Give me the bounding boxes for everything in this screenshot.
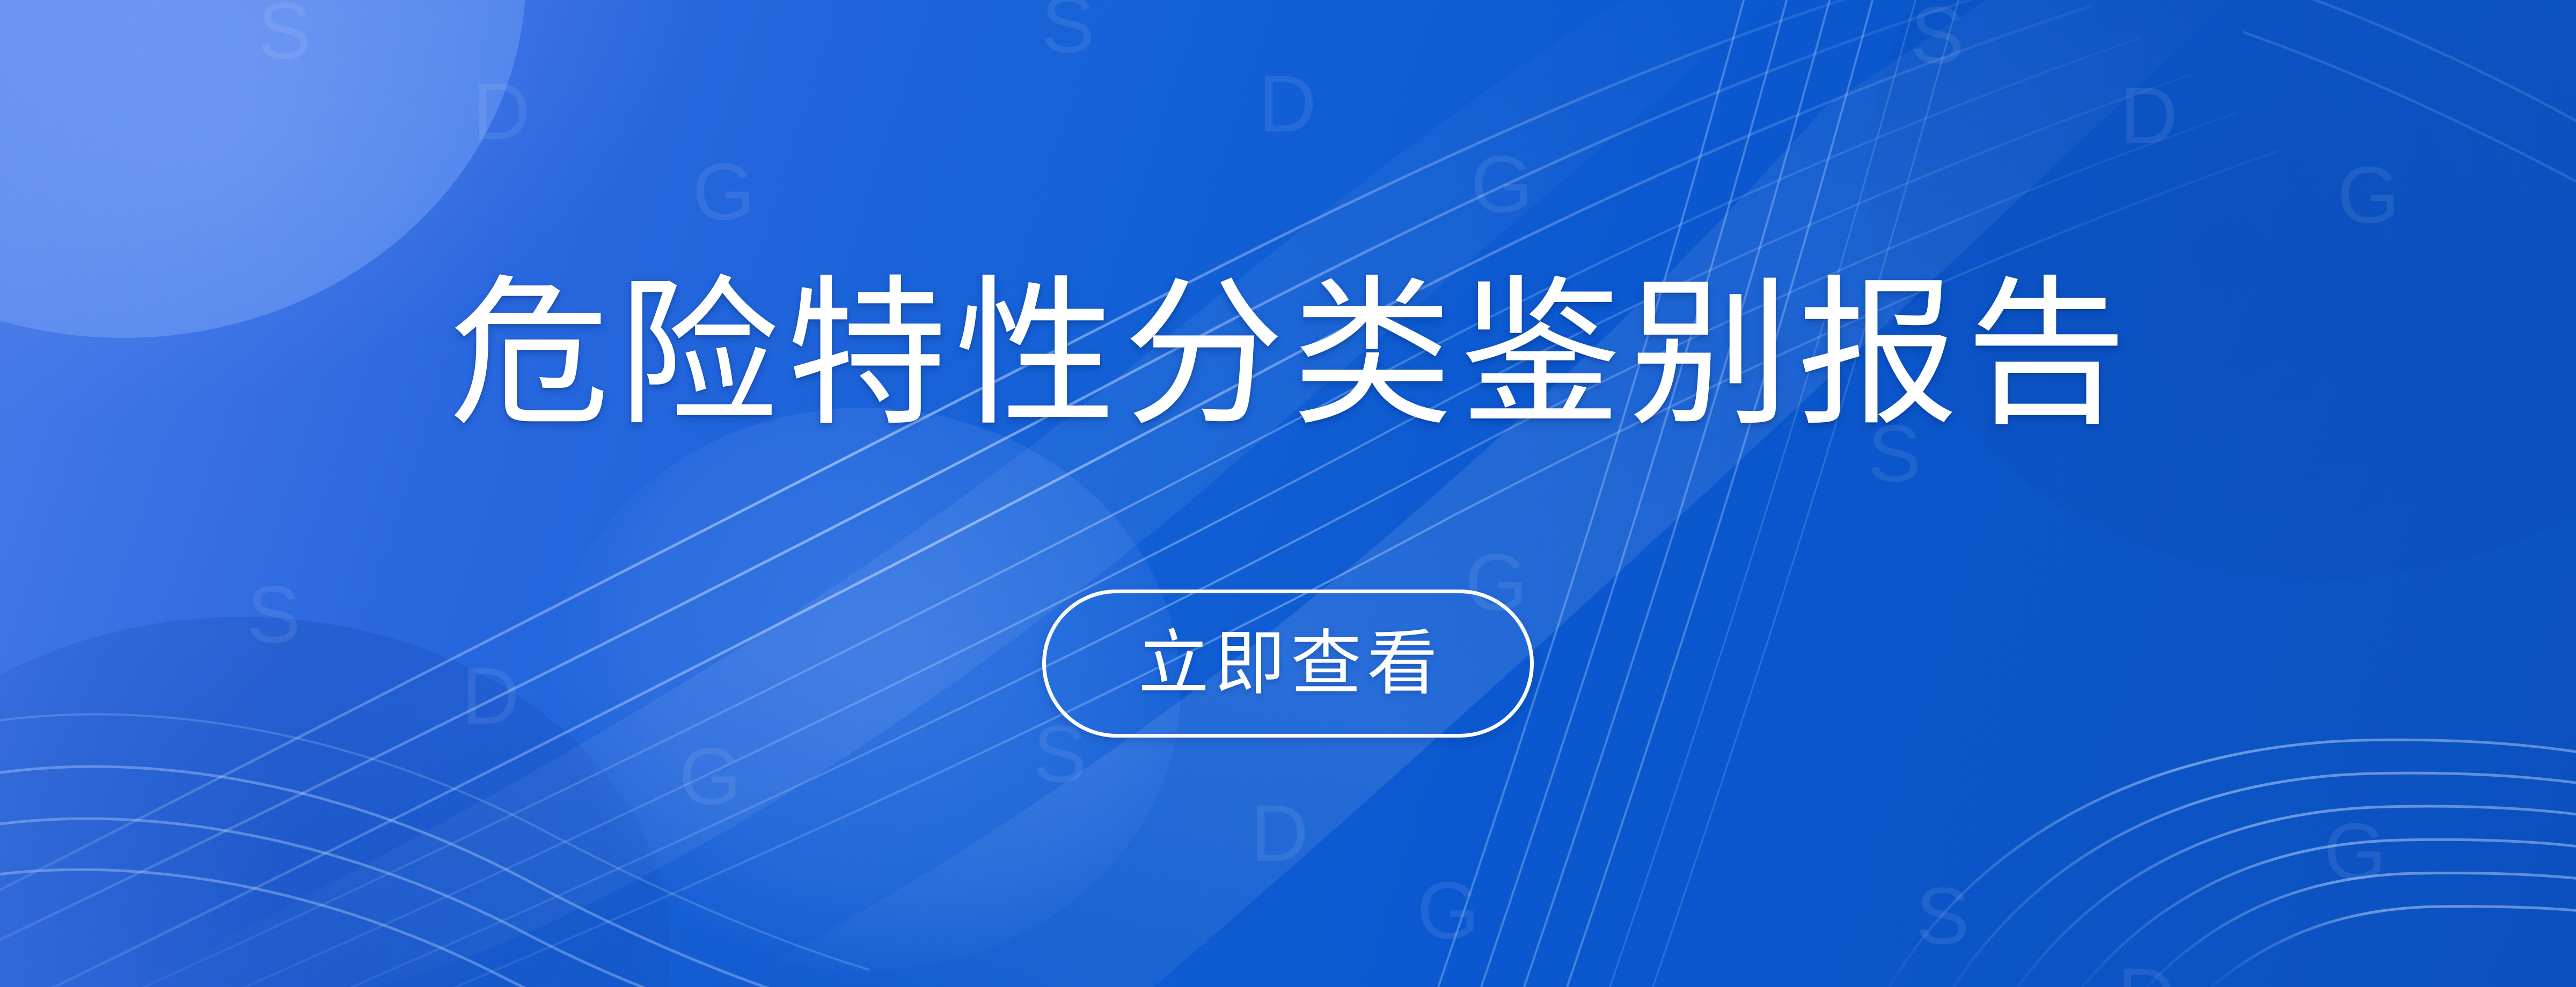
cta-container: 立即查看 bbox=[0, 590, 2576, 738]
view-now-button[interactable]: 立即查看 bbox=[1042, 590, 1534, 738]
banner-title: 危险特性分类鉴别报告 bbox=[442, 261, 2134, 447]
promo-banner: S D G S D G S D G S D G S D G S D G G S … bbox=[0, 0, 2576, 987]
banner-content: 危险特性分类鉴别报告 立即查看 bbox=[0, 0, 2576, 987]
